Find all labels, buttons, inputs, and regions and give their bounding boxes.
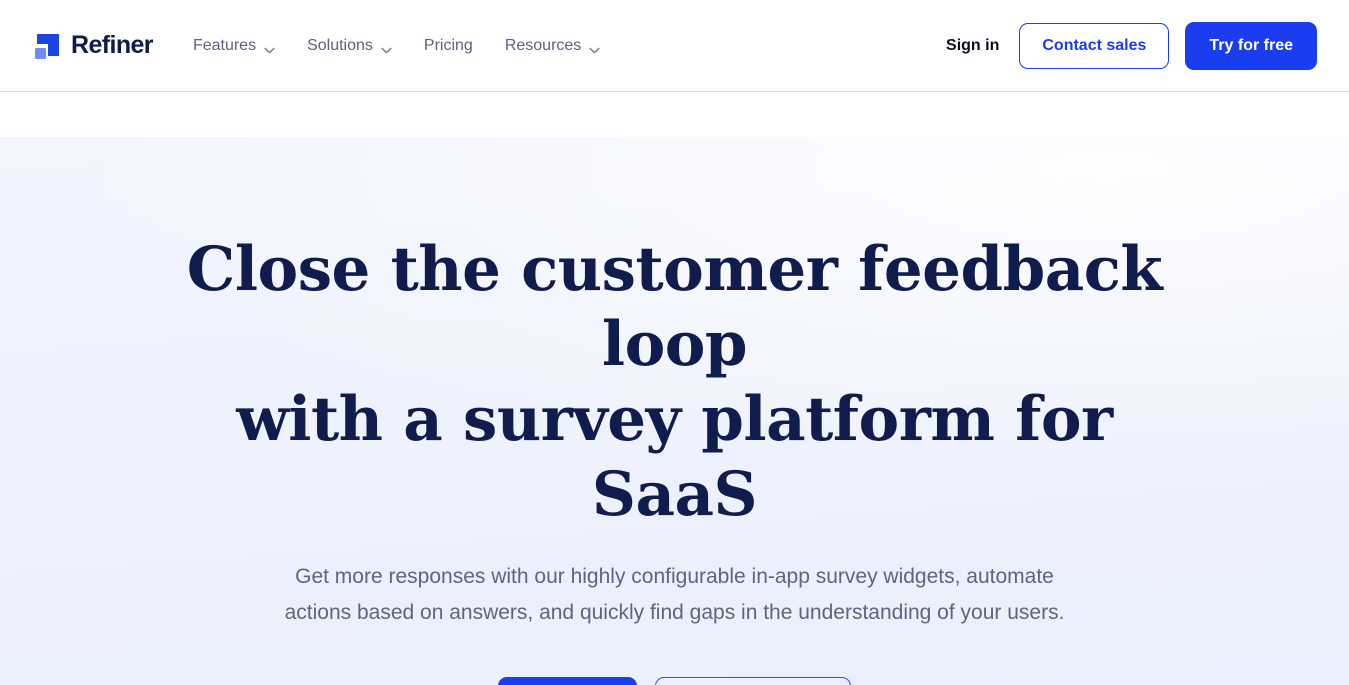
landing-page: Refiner Features Solutions xyxy=(0,0,1349,685)
header-spacer xyxy=(0,92,1349,137)
hero-subtitle: Get more responses with our highly confi… xyxy=(275,559,1075,631)
contact-sales-button[interactable]: Contact sales xyxy=(1019,23,1169,69)
chevron-down-icon xyxy=(264,42,275,49)
hero-title-line-1: Close the customer feedback loop xyxy=(187,234,1162,380)
nav-item-label: Solutions xyxy=(307,38,373,54)
try-for-free-button-hero[interactable]: Try for free xyxy=(498,677,637,685)
nav-item-label: Pricing xyxy=(424,38,473,54)
nav-item-solutions[interactable]: Solutions xyxy=(307,32,392,60)
header-actions: Sign in Contact sales Try for free xyxy=(942,22,1317,70)
nav-item-features[interactable]: Features xyxy=(193,32,275,60)
brand-logo-link[interactable]: Refiner xyxy=(32,31,153,61)
hero-content: Close the customer feedback loop with a … xyxy=(125,137,1225,685)
site-header: Refiner Features Solutions xyxy=(0,0,1349,92)
chevron-down-icon xyxy=(381,42,392,49)
launch-live-demo-button[interactable]: Launch live demo xyxy=(655,677,851,685)
refiner-logo-icon xyxy=(32,31,62,61)
main-navigation: Features Solutions Pricing xyxy=(193,0,600,91)
nav-item-label: Resources xyxy=(505,38,581,54)
chevron-down-icon xyxy=(589,42,600,49)
hero-section: Close the customer feedback loop with a … xyxy=(0,137,1349,685)
brand-name: Refiner xyxy=(71,33,153,58)
nav-item-pricing[interactable]: Pricing xyxy=(424,32,473,60)
sign-in-link[interactable]: Sign in xyxy=(942,31,1003,61)
hero-title-line-2: with a survey platform for SaaS xyxy=(236,384,1112,530)
nav-item-resources[interactable]: Resources xyxy=(505,32,600,60)
hero-cta-group: Try for free Launch live demo xyxy=(155,677,1195,685)
nav-item-label: Features xyxy=(193,38,256,54)
try-for-free-button-header[interactable]: Try for free xyxy=(1185,22,1317,70)
page-title: Close the customer feedback loop with a … xyxy=(155,232,1195,532)
